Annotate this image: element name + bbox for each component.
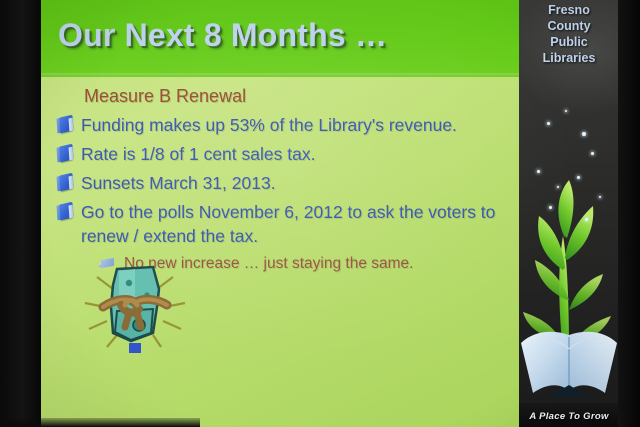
book-bullet-icon	[57, 203, 75, 220]
slide-subheading: Measure B Renewal	[84, 86, 246, 107]
bullet-text: Funding makes up 53% of the Library's re…	[81, 115, 457, 135]
bullet-text: Go to the polls November 6, 2012 to ask …	[81, 202, 495, 246]
bullet-item: Sunsets March 31, 2013.	[57, 171, 519, 195]
book-bullet-icon	[57, 116, 75, 133]
water-droplet	[591, 152, 594, 155]
book-bullet-icon	[57, 174, 75, 191]
book-bullet-icon	[57, 145, 75, 162]
slide-title: Our Next 8 Months …	[58, 17, 387, 54]
slide: Our Next 8 Months … Measure B Renewal Fu…	[39, 0, 619, 427]
water-droplet	[585, 218, 588, 221]
slide-title-band: Our Next 8 Months …	[39, 0, 519, 77]
water-droplet	[549, 206, 552, 209]
bullet-text: Rate is 1/8 of 1 cent sales tax.	[81, 144, 315, 164]
water-droplet	[557, 186, 559, 188]
library-name-line: Public	[519, 34, 619, 50]
projector-surround-bottom	[0, 418, 200, 427]
library-name: Fresno County Public Libraries	[519, 2, 619, 66]
projector-surround-left	[0, 0, 41, 427]
money-bag-clipart	[69, 255, 199, 360]
water-droplet	[565, 110, 567, 112]
money-bag-tag	[129, 343, 141, 353]
water-droplet	[547, 122, 550, 125]
library-branding-panel: Fresno County Public Libraries	[519, 0, 619, 427]
water-droplet	[582, 132, 586, 136]
open-book-graphic	[519, 309, 619, 405]
water-droplet	[577, 176, 580, 179]
library-name-line: Fresno	[519, 2, 619, 18]
library-name-line: County	[519, 18, 619, 34]
bullet-item: Funding makes up 53% of the Library's re…	[57, 113, 519, 137]
bullet-item: Rate is 1/8 of 1 cent sales tax.	[57, 142, 519, 166]
water-droplet	[537, 170, 540, 173]
library-tagline: A Place To Grow	[519, 411, 619, 422]
water-droplet	[599, 196, 601, 198]
bullet-list: Funding makes up 53% of the Library's re…	[57, 113, 519, 274]
projector-surround-right	[618, 0, 640, 427]
projected-slide-photo: Our Next 8 Months … Measure B Renewal Fu…	[0, 0, 640, 427]
bullet-text: Sunsets March 31, 2013.	[81, 173, 276, 193]
library-name-line: Libraries	[519, 50, 619, 66]
bullet-item: Go to the polls November 6, 2012 to ask …	[57, 200, 519, 248]
